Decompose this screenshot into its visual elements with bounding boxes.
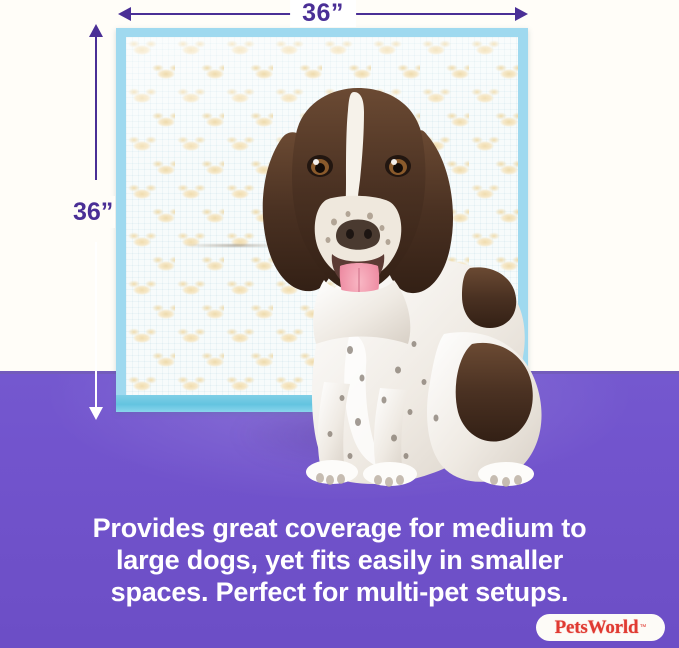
arrow-right-icon: [515, 7, 528, 21]
height-dimension-label: 36”: [71, 196, 115, 228]
brand-name: PetsWorld: [555, 617, 639, 639]
caption-line-3: spaces. Perfect for multi-pet setups.: [0, 576, 679, 608]
caption-line-1: Provides great coverage for medium to: [0, 512, 679, 544]
width-dimension-annotation: 36”: [118, 5, 528, 23]
arrow-left-icon: [118, 7, 131, 21]
arrow-down-icon: [89, 407, 103, 420]
trademark-icon: ™: [639, 624, 646, 631]
brand-logo: PetsWorld ™: [536, 614, 665, 641]
width-dimension-label: 36”: [290, 0, 356, 27]
product-marketing-image: 36” 36” Provides great coverage for medi…: [0, 0, 679, 648]
caption-line-2: large dogs, yet fits easily in smaller: [0, 544, 679, 576]
dog-subject: [258, 82, 588, 490]
height-dimension-line-bottom-floor: [95, 242, 97, 408]
height-dimension-line-top: [95, 30, 97, 180]
height-dimension-annotation: 36”: [87, 24, 105, 420]
caption-text: Provides great coverage for medium to la…: [0, 512, 679, 608]
